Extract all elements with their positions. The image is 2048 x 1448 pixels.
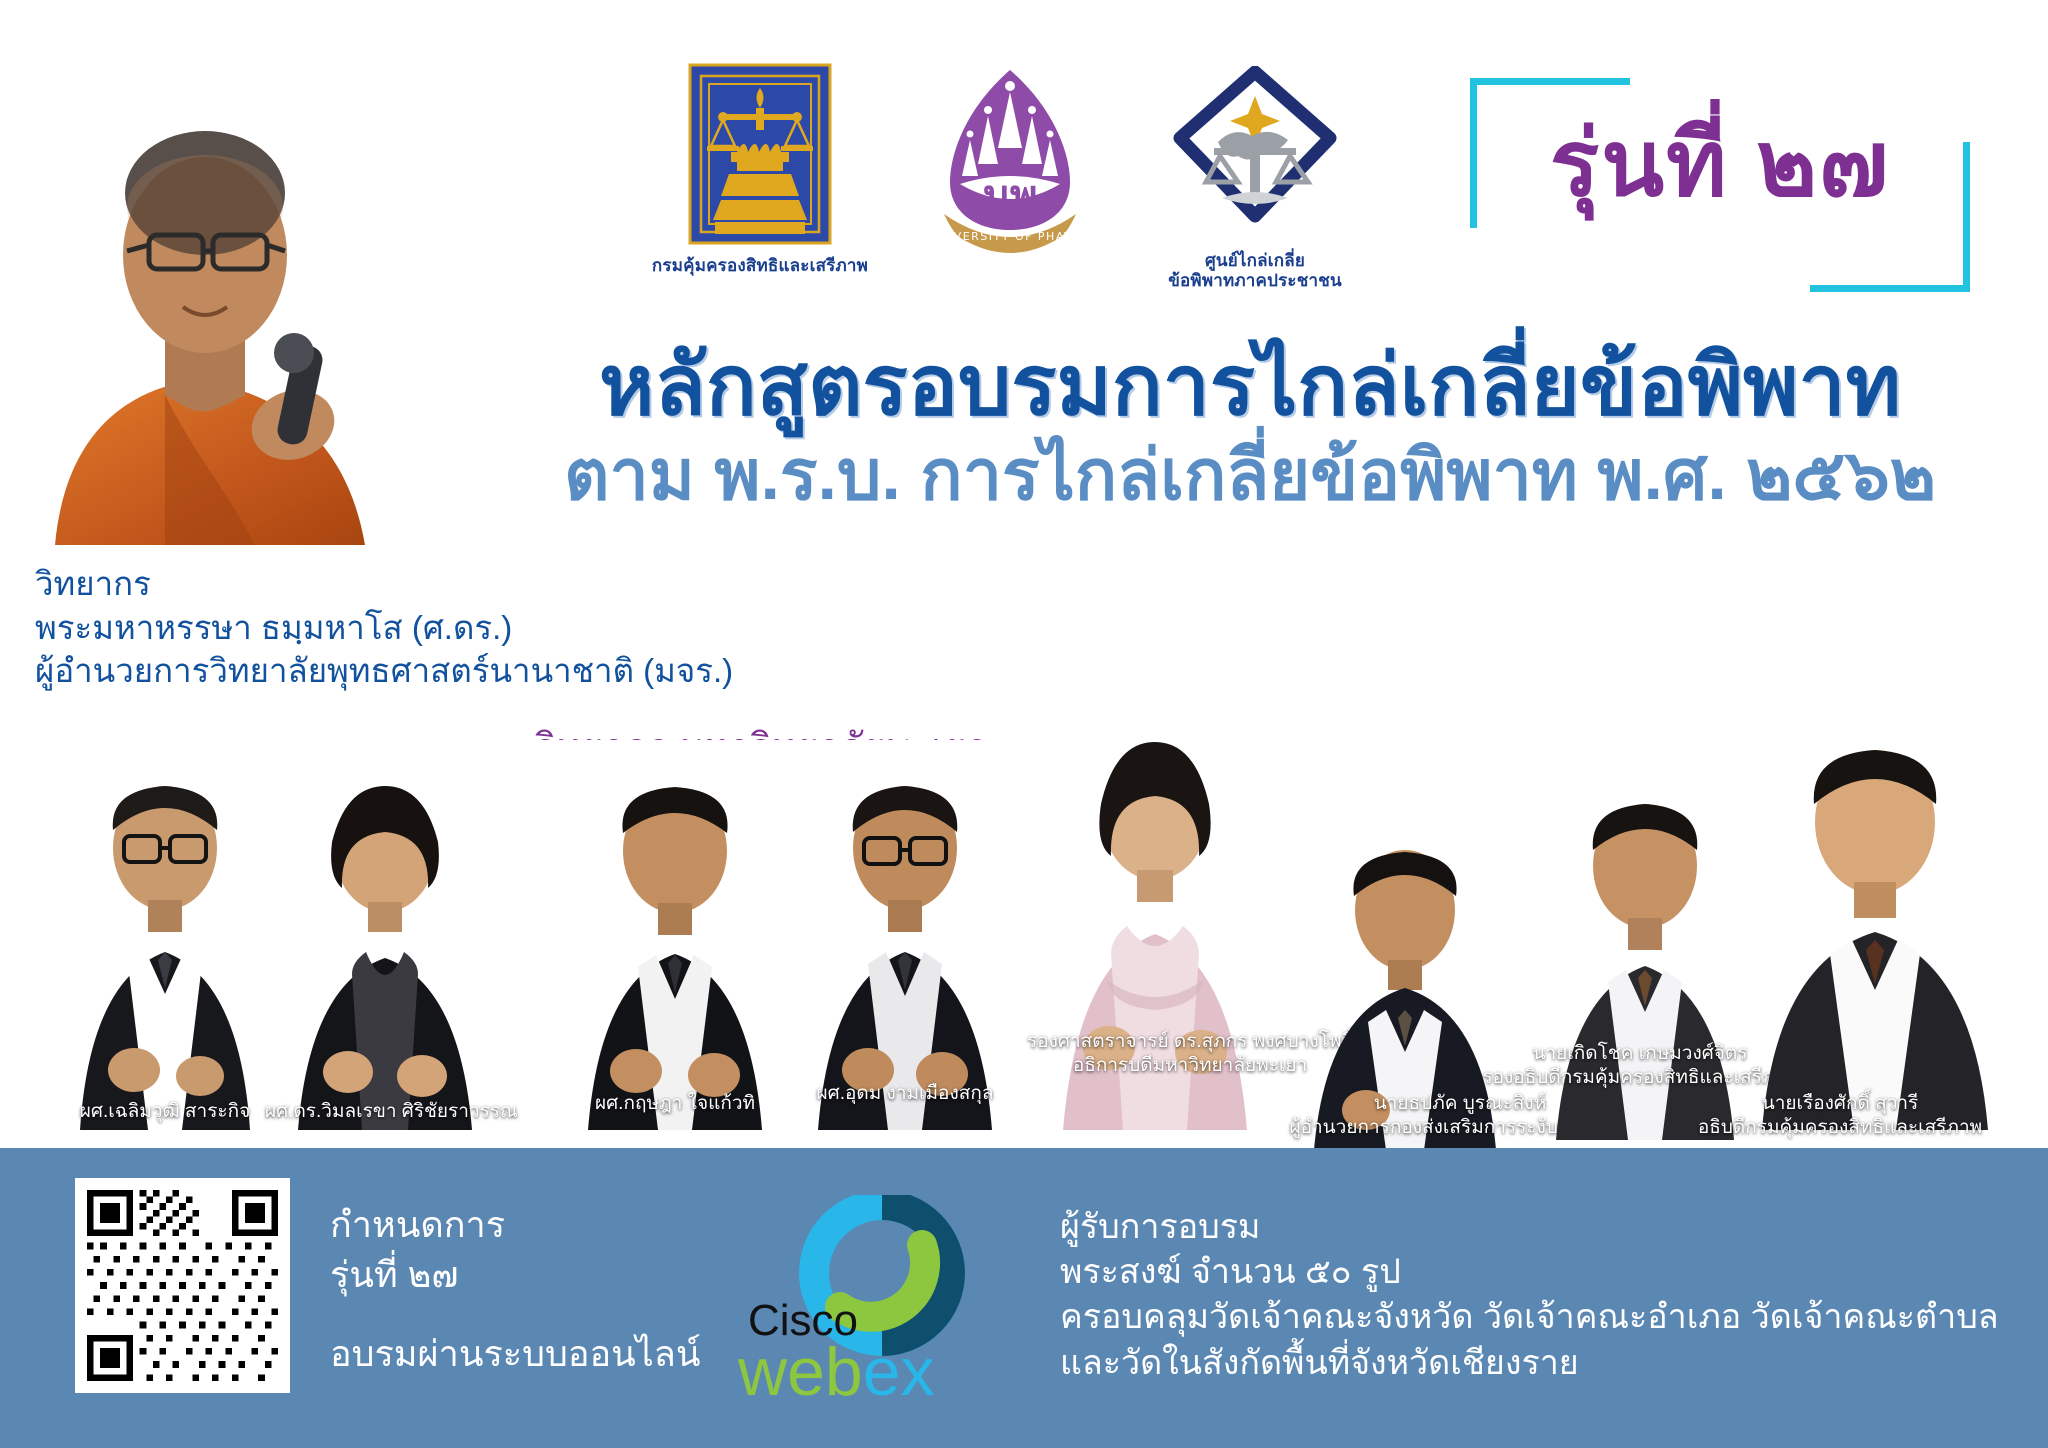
schedule-mode: อบรมผ่านระบบออนไลน์ [330, 1329, 700, 1379]
person-caption: ผศ.อุดม งามเมืองสกุล [790, 1082, 1020, 1106]
logo-caption: กรมคุ้มครองสิทธิและเสรีภาพ [640, 252, 880, 279]
speaker-title: ผู้อำนวยการวิทยาลัยพุทธศาสตร์นานาชาติ (ม… [35, 649, 733, 693]
logo-row: กรมคุ้มครองสิทธิและเสรีภาพ มพ UNI [640, 62, 1380, 312]
logo-caption-line1: ศูนย์ไกล่เกลี่ย [1130, 251, 1380, 271]
poster-root: กรมคุ้มครองสิทธิและเสรีภาพ มพ UNI [0, 0, 2048, 1448]
schedule-heading: กำหนดการ [330, 1200, 700, 1250]
person-name: ผศ.ดร.วิมลเรขา ศิริชัยราวรรณ [265, 1101, 518, 1122]
svg-text:UNIVERSITY OF PHAYAO: UNIVERSITY OF PHAYAO [930, 230, 1090, 243]
person-name: นายเรืองศักดิ์ สุวารี [1640, 1092, 2040, 1116]
person-name: ผศ.กฤษฎา ใจแก้วทิ [595, 1093, 755, 1114]
cisco-webex-logo: Cisco webex [730, 1195, 1010, 1410]
rights-liberties-department-logo: กรมคุ้มครองสิทธิและเสรีภาพ [640, 62, 880, 279]
university-of-phayao-logo: มพ UNIVERSITY OF PHAYAO [910, 64, 1110, 264]
people-strip: ผศ.เฉลิมวุฒิ สาระกิจ ผศ.ดร.วิมลเรขา ศิริ… [0, 740, 2048, 1140]
audience-line-2: ครอบคลุมวัดเจ้าคณะจังหวัด วัดเจ้าคณะอำเภ… [1060, 1295, 1999, 1340]
logo-caption-line2: ข้อพิพาทภาคประชาชน [1130, 271, 1380, 291]
spacer [330, 1299, 700, 1329]
mediation-center-logo: ศูนย์ไกล่เกลี่ย ข้อพิพาทภาคประชาชน [1130, 66, 1380, 290]
person-subtitle: อธิบดีกรมคุ้มครองสิทธิและเสรีภาพ [1640, 1116, 2040, 1140]
speaker-role: วิทยากร [35, 562, 733, 606]
page-title: หลักสูตรอบรมการไกล่เกลี่ยข้อพิพาท ตาม พ.… [470, 340, 2030, 514]
person-photo [1740, 730, 2010, 1130]
person-photo [270, 780, 500, 1130]
person-caption: ผศ.เฉลิมวุฒิ สาระกิจ [60, 1100, 270, 1124]
schedule-block: กำหนดการ รุ่นที่ ๒๗ อบรมผ่านระบบออนไลน์ [330, 1200, 700, 1379]
schedule-batch: รุ่นที่ ๒๗ [330, 1250, 700, 1300]
webex-wordmark: webex [737, 1334, 935, 1410]
qr-code[interactable] [75, 1178, 290, 1393]
speaker-info: วิทยากร พระมหาหรรษา ธมฺมหาโส (ศ.ดร.) ผู้… [35, 562, 733, 693]
person-caption: ผศ.กฤษฎา ใจแก้วทิ [555, 1092, 795, 1116]
person-caption: ผศ.ดร.วิมลเรขา ศิริชัยราวรรณ [265, 1100, 515, 1124]
speaker-photo [45, 95, 385, 545]
person-name: ผศ.เฉลิมวุฒิ สาระกิจ [80, 1101, 251, 1122]
audience-block: ผู้รับการอบรม พระสงฆ์ จำนวน ๕๐ รูป ครอบค… [1060, 1205, 1999, 1386]
title-line-2: ตาม พ.ร.บ. การไกล่เกลี่ยข้อพิพาท พ.ศ. ๒๕… [470, 437, 2030, 514]
person-photo [790, 770, 1020, 1130]
person-name: ผศ.อุดม งามเมืองสกุล [817, 1083, 994, 1104]
batch-label: รุ่นที่ ๒๗ [1460, 118, 1980, 210]
audience-line-3: และวัดในสังกัดพื้นที่จังหวัดเชียงราย [1060, 1341, 1999, 1386]
audience-heading: ผู้รับการอบรม [1060, 1205, 1999, 1250]
svg-text:มพ: มพ [982, 171, 1037, 220]
person-photo [560, 775, 790, 1130]
batch-badge: รุ่นที่ ๒๗ [1460, 60, 1980, 300]
person-caption: นายเรืองศักดิ์ สุวารี อธิบดีกรมคุ้มครองส… [1640, 1092, 2040, 1140]
person-photo [50, 770, 280, 1130]
audience-line-1: พระสงฆ์ จำนวน ๕๐ รูป [1060, 1250, 1999, 1295]
title-line-1: หลักสูตรอบรมการไกล่เกลี่ยข้อพิพาท [470, 340, 2030, 431]
speaker-name: พระมหาหรรษา ธมฺมหาโส (ศ.ดร.) [35, 606, 733, 650]
